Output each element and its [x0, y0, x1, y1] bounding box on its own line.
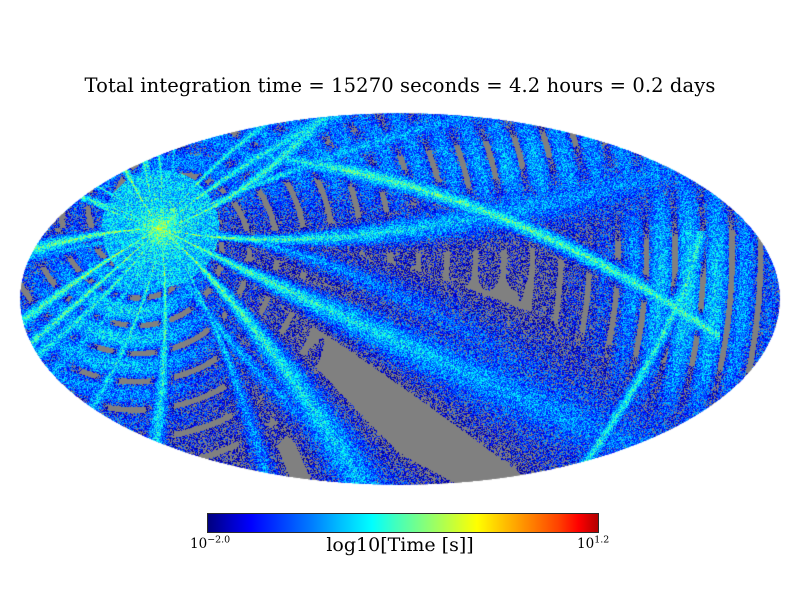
mollweide-sky-map: [0, 0, 800, 600]
sky-map-figure: Total integration time = 15270 seconds =…: [0, 0, 800, 600]
